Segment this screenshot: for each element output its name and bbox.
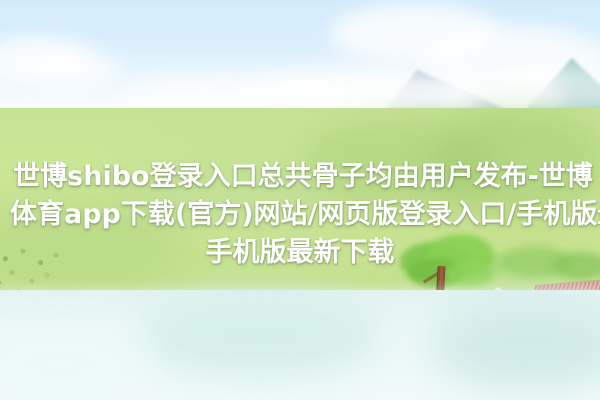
headline-line-2: 体育app下载(官方)网站/网页版登录入口/手机版最新 (10, 196, 600, 234)
headline-line-3: 手机版最新下载 (0, 234, 600, 272)
water-glow-center (140, 296, 380, 376)
cloud-left-low-icon (40, 52, 120, 86)
promo-banner-image: 世博shibo登录入口总共骨子均由用户发布-世博 体育app下载(官方)网站/网… (0, 0, 600, 400)
headline-line-1: 世博shibo登录入口总共骨子均由用户发布-世博 (6, 158, 600, 196)
headline-text-block: 世博shibo登录入口总共骨子均由用户发布-世博 体育app下载(官方)网站/网… (0, 158, 600, 272)
